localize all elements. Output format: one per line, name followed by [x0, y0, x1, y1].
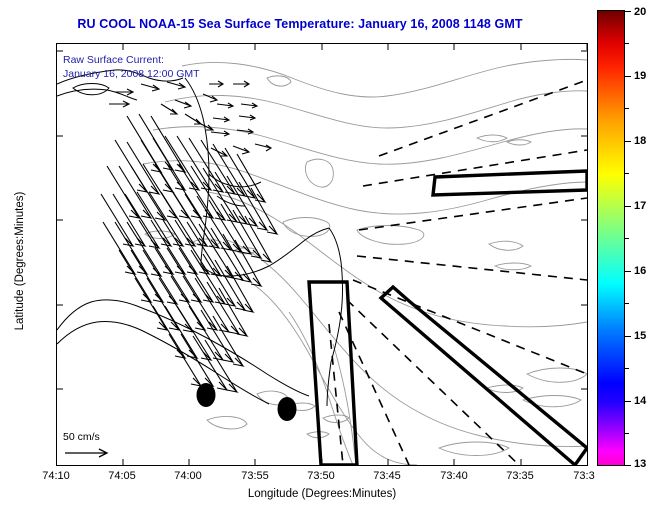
colorbar-minor-tick-4 — [625, 238, 629, 239]
colorbar-tick-15 — [625, 336, 631, 337]
colorbar-tick-14 — [625, 401, 631, 402]
station-markers — [197, 383, 297, 421]
colorbar-tick-19 — [625, 76, 631, 77]
colorbar-label-16: 16 — [634, 265, 646, 277]
dashed-transect-lines — [329, 80, 587, 465]
colorbar-tick-17 — [625, 206, 631, 207]
colorbar-minor-tick-5 — [625, 303, 629, 304]
colorbar-minor-tick-1 — [625, 43, 629, 44]
colorbar-minor-tick-3 — [625, 173, 629, 174]
colorbar-label-13: 13 — [634, 458, 646, 470]
colorbar-label-14: 14 — [634, 395, 646, 407]
surface-current-vectors — [101, 81, 277, 392]
y-axis-title: Latitude (Degrees:Minutes) — [14, 161, 26, 361]
y-axis-labels: 40:35 40:30 40:25 40:20 40:15 40:10 — [0, 0, 52, 518]
xtick-label-0: 74:10 — [26, 470, 86, 482]
xtick-label-1: 74:05 — [92, 470, 152, 482]
colorbar-gradient — [597, 10, 625, 466]
station-marker-1 — [197, 383, 216, 407]
colorbar-label-18: 18 — [634, 135, 646, 147]
map-plot-area[interactable]: Raw Surface Current: January 16, 2008 12… — [56, 43, 588, 466]
x-axis-title: Longitude (Degrees:Minutes) — [56, 488, 588, 500]
colorbar-minor-tick-6 — [625, 368, 629, 369]
colorbar-label-20: 20 — [634, 6, 646, 18]
map-graphics — [57, 44, 587, 465]
xtick-label-8: 73:3 — [554, 470, 614, 482]
xtick-label-4: 73:50 — [291, 470, 351, 482]
colorbar-label-19: 19 — [634, 70, 646, 82]
colorbar-tick-13 — [625, 465, 631, 466]
colorbar-tick-20 — [625, 11, 631, 12]
xtick-label-7: 73:35 — [490, 470, 550, 482]
xtick-label-3: 73:55 — [225, 470, 285, 482]
figure-canvas: RU COOL NOAA-15 Sea Surface Temperature:… — [0, 0, 651, 518]
figure-title: RU COOL NOAA-15 Sea Surface Temperature:… — [0, 17, 600, 31]
colorbar-tick-16 — [625, 271, 631, 272]
xtick-label-6: 73:40 — [424, 470, 484, 482]
colorbar[interactable]: 20 19 18 17 16 15 14 13 — [597, 10, 625, 466]
xtick-label-2: 74:00 — [158, 470, 218, 482]
colorbar-label-15: 15 — [634, 330, 646, 342]
axis-ticks — [57, 44, 587, 465]
station-marker-2 — [278, 397, 297, 421]
colorbar-minor-tick-7 — [625, 433, 629, 434]
xtick-label-5: 73:45 — [357, 470, 417, 482]
colorbar-minor-tick-2 — [625, 108, 629, 109]
coastline — [57, 70, 343, 406]
colorbar-label-17: 17 — [634, 200, 646, 212]
colorbar-tick-18 — [625, 141, 631, 142]
